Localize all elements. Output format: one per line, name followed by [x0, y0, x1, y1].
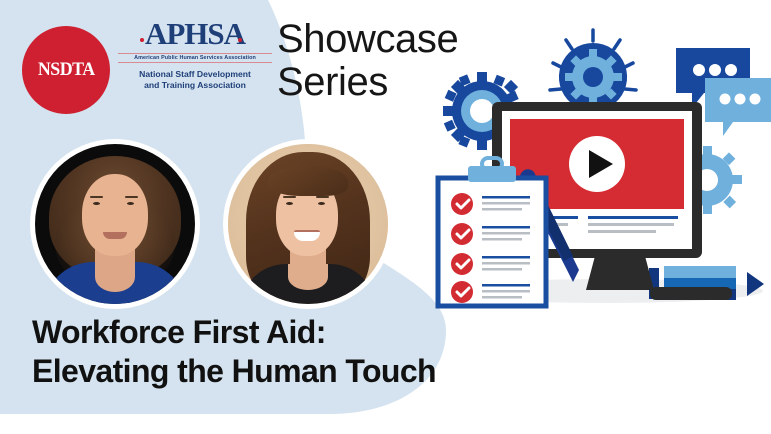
aphsa-logo: APHSA American Public Human Services Ass… — [118, 18, 272, 91]
chat-bubble-light-icon — [705, 78, 771, 136]
webinar-illustration — [420, 8, 771, 320]
nsdta-logo-text: NSDTA — [38, 59, 95, 81]
page-title-line2: Elevating the Human Touch — [32, 352, 436, 391]
aphsa-logo-text: APHSA — [118, 18, 272, 50]
aphsa-tagline: American Public Human Services Associati… — [118, 55, 272, 61]
photo2-fringe — [268, 166, 348, 196]
photo1-eye-left — [93, 202, 100, 205]
clipboard-checklist-icon — [438, 158, 546, 306]
photo1-brow-left — [90, 196, 103, 198]
aphsa-dot-right — [238, 38, 242, 42]
aphsa-rule-top — [118, 53, 272, 54]
speaker-photo-1 — [35, 144, 195, 304]
photo2-eye-left — [286, 202, 293, 205]
monitor-base — [650, 287, 732, 300]
slide-canvas: NSDTA APHSA American Public Human Servic… — [0, 0, 771, 434]
logo-lockup: NSDTA APHSA American Public Human Servic… — [22, 18, 272, 118]
photo2-brow-right — [316, 196, 329, 198]
photo2-eye-right — [318, 202, 325, 205]
speaker-photo-2 — [228, 144, 388, 304]
aphsa-dot-left — [140, 38, 144, 42]
photo1-eye-right — [127, 202, 134, 205]
photo2-brow-left — [283, 196, 296, 198]
photo1-brow-right — [125, 196, 138, 198]
photo2-mouth — [294, 230, 320, 241]
nsdta-logo-mark: NSDTA — [22, 26, 110, 114]
monitor-neck — [586, 256, 654, 290]
photo1-mouth — [103, 232, 127, 239]
aphsa-rule-bottom — [118, 62, 272, 63]
page-title-line1: Workforce First Aid: — [32, 313, 436, 352]
photo1-face — [82, 174, 148, 256]
page-title: Workforce First Aid: Elevating the Human… — [32, 313, 436, 391]
nsdta-full-name: National Staff Development and Training … — [118, 69, 272, 91]
